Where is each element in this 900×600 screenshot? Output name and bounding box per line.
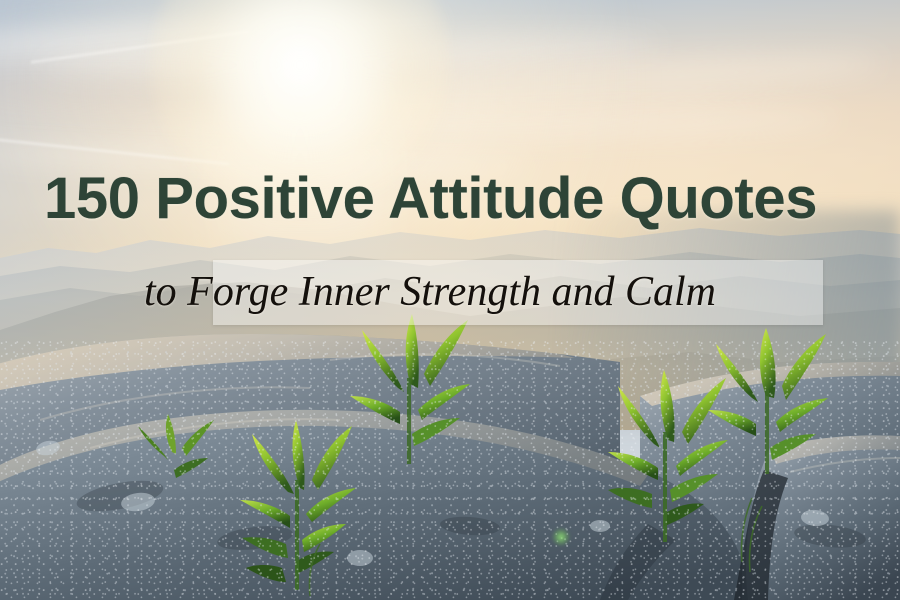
lens-flare-icon [552, 528, 570, 546]
page-subtitle: to Forge Inner Strength and Calm [144, 266, 900, 320]
granite-boulders [0, 300, 900, 600]
page-title: 150 Positive Attitude Quotes [44, 168, 864, 229]
quote-banner: 150 Positive Attitude Quotes to Forge In… [0, 0, 900, 600]
